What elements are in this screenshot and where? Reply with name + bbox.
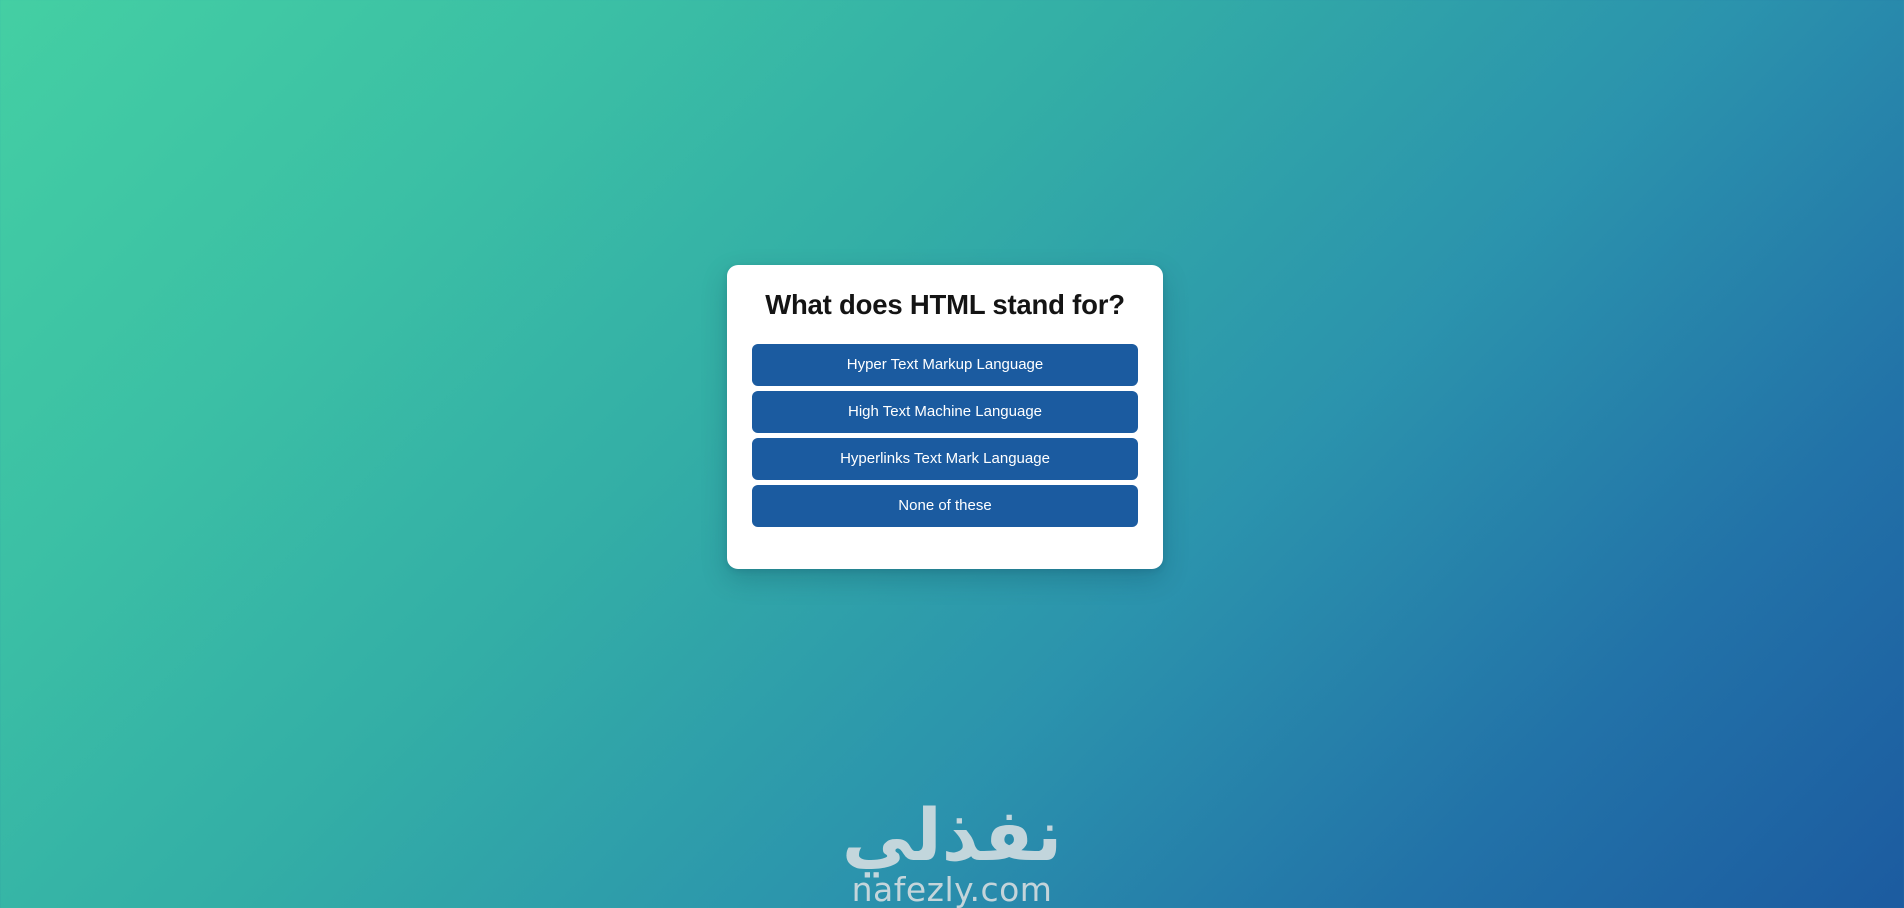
watermark-logo: نفذلي nafezly.com	[0, 799, 1904, 908]
answer-options-list: Hyper Text Markup Language High Text Mac…	[752, 344, 1138, 527]
quiz-card: What does HTML stand for? Hyper Text Mar…	[727, 265, 1163, 569]
watermark-arabic-text: نفذلي	[842, 799, 1062, 871]
answer-option-3[interactable]: Hyperlinks Text Mark Language	[752, 438, 1138, 480]
quiz-question: What does HTML stand for?	[752, 291, 1138, 320]
answer-option-2[interactable]: High Text Machine Language	[752, 391, 1138, 433]
page-background: What does HTML stand for? Hyper Text Mar…	[0, 0, 1904, 908]
answer-option-1[interactable]: Hyper Text Markup Language	[752, 344, 1138, 386]
answer-option-4[interactable]: None of these	[752, 485, 1138, 527]
watermark-domain-text: nafezly.com	[852, 873, 1053, 908]
